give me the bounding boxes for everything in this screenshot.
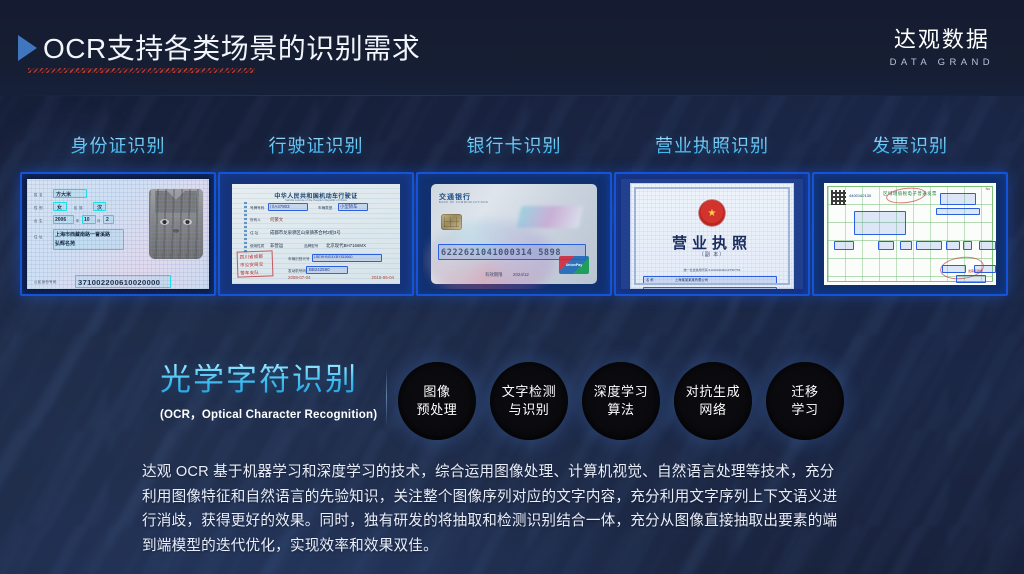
national-emblem-icon [699, 200, 725, 226]
license-credit-code-label: 统一社会信用代码 [684, 268, 708, 272]
description-line-3: 行消歧，获得更好的效果。同时，独有研发的将抽取和检测识别结合一体，充分从图像直接… [142, 509, 884, 534]
invoice-code: 4400162130 [849, 193, 871, 198]
brand-logo: 达观数据 DATA GRAND [890, 28, 994, 68]
card-frame-bank: 交通银行 BANK OF COMMUNICATIONS 622262104100… [416, 172, 612, 296]
ocr-box-sex [53, 202, 67, 211]
ocr-box-item-6 [963, 241, 972, 250]
bubble-image-preprocessing[interactable]: 图像 预处理 [398, 362, 476, 440]
invoice-document: 4400162130 区域增值税电子普通发票 No [824, 183, 996, 285]
card-label-invoice: 发票识别 [812, 132, 1008, 158]
ocr-box-item-7 [979, 241, 996, 250]
dl-plate-label: 号牌号码 [250, 206, 264, 211]
license-subtitle: （副 本） [699, 251, 725, 258]
ocr-box-invoice-no [940, 193, 976, 205]
id-nation-value: 汉 [97, 204, 102, 211]
license-type-label: 类 型 [646, 288, 654, 289]
id-sex-value: 女 [57, 204, 62, 211]
dl-title: 中华人民共和国机动车行驶证 [274, 191, 357, 200]
dl-vin-label: 车辆识别代号 [288, 257, 310, 262]
ocr-box-nation [93, 202, 106, 211]
id-birth-year-unit: 年 [76, 218, 80, 223]
id-name-label: 姓 名 [34, 192, 43, 197]
bank-card-number: 6222621041000314 5898 [441, 248, 561, 258]
logo-english-text: DATA GRAND [890, 57, 994, 68]
invoice-stamp-text: 发票专用章 [968, 269, 983, 273]
bubble-gan[interactable]: 对抗生成 网络 [674, 362, 752, 440]
card-frame-license: 营业执照 （副 本） 统一社会信用代码 91310011MA1FT9KT53 名… [614, 172, 810, 296]
dl-title-en: Vehicle License of the People's Republic… [285, 198, 346, 202]
card-label-bank: 银行卡识别 [416, 132, 612, 158]
bank-card-hologram [517, 206, 584, 228]
ocr-box-amount [956, 275, 986, 283]
id-birth-day: 2 [106, 217, 109, 223]
scenario-card-license[interactable]: 营业执照识别 营业执照 （副 本） 统一社会信用代码 91310011MA1FT… [614, 132, 810, 296]
ocr-box-birth-year [53, 215, 74, 224]
invoice-qr-code-icon [831, 190, 846, 205]
description-line-4: 到端模型的迭代优化，实现效率和效果双佳。 [142, 534, 884, 559]
vertical-divider [386, 368, 387, 426]
id-sex-label: 性 别 [34, 205, 43, 210]
page-title: OCR支持各类场景的识别需求 [43, 27, 420, 67]
bubble-3-line2: 算法 [594, 401, 648, 419]
description-line-2: 利用图像特征和自然语言的先验知识，关注整个图像序列对应的文字内容，充分利用文字序… [142, 485, 884, 510]
page-title-wrap: OCR支持各类场景的识别需求 [18, 27, 420, 67]
id-address-line1: 上海市西藏南路一誉溪路 [55, 231, 110, 238]
bank-card-document: 交通银行 BANK OF COMMUNICATIONS 622262104100… [431, 184, 597, 284]
triangle-marker-icon [18, 35, 37, 61]
dl-issue-date: 2015-06-04 [372, 275, 394, 280]
dl-use-label: 使用性质 [250, 244, 264, 249]
dl-stamp-line1: 四川省成都 [240, 252, 270, 261]
ocr-box-plate [268, 203, 308, 211]
unionpay-logo-icon [559, 256, 589, 274]
ocr-title-block: 光学字符识别 (OCR，Optical Character Recognitio… [160, 364, 378, 422]
bubble-2-line1: 文字检测 [502, 383, 556, 401]
scenario-card-invoice[interactable]: 发票识别 4400162130 区域增值税电子普通发票 No [812, 132, 1008, 296]
id-nation-label: 民 族 [74, 205, 83, 210]
bank-expiry-label: 有效期限 [485, 272, 503, 278]
dl-use-value: 非营运 [270, 243, 283, 249]
ocr-box-birth-month [82, 215, 96, 224]
dl-engine-value: BB242590 [309, 267, 330, 272]
dl-owner-value: 何繁文 [270, 217, 283, 223]
ocr-box-address [53, 229, 124, 250]
id-birth-year: 2006 [55, 217, 66, 223]
license-title: 营业执照 [672, 232, 752, 253]
dl-stamp-line2: 市公安局交 [240, 260, 270, 269]
bubble-transfer-learning[interactable]: 迁移 学习 [766, 362, 844, 440]
card-frame-driving: 中华人民共和国机动车行驶证 Vehicle License of the Peo… [218, 172, 414, 296]
bubble-5-line1: 迁移 [791, 383, 818, 401]
invoice-number-label: No [986, 187, 990, 191]
license-name-value: 上海某某某某有限公司 [675, 277, 708, 282]
dl-plate-value: 川A47803 [270, 204, 290, 210]
ocr-title-english: (OCR，Optical Character Recognition) [160, 406, 378, 422]
card-label-driving: 行驶证识别 [218, 132, 414, 158]
bubble-2-line2: 与识别 [502, 401, 556, 419]
id-address-label: 住 址 [34, 234, 43, 239]
bubble-5-line2: 学习 [791, 401, 818, 419]
ocr-box-vin [312, 254, 382, 262]
license-type-value: 有限责任公司（自然人投资或控股的法人独资） [675, 288, 744, 289]
dl-address-label: 住 址 [250, 231, 258, 236]
ocr-box-id-number [75, 275, 171, 288]
id-birth-month: 10 [84, 217, 90, 223]
id-birth-label: 出 生 [34, 218, 43, 223]
dl-official-stamp: 四川省成都 市公安局交 警车支队 [237, 250, 274, 277]
bubble-4-line1: 对抗生成 [686, 383, 740, 401]
dl-type-value: 小型轿车 [340, 204, 358, 210]
ocr-box-item-2 [878, 241, 894, 250]
business-license-document: 营业执照 （副 本） 统一社会信用代码 91310011MA1FT9KT53 名… [621, 179, 803, 289]
license-credit-code: 统一社会信用代码 91310011MA1FT9KT53 [684, 268, 741, 272]
scenario-card-bank[interactable]: 银行卡识别 交通银行 BANK OF COMMUNICATIONS 622262… [416, 132, 612, 296]
description-paragraph: 达观 OCR 基于机器学习和深度学习的技术，综合运用图像处理、计算机视觉、自然语… [142, 460, 884, 559]
spellcheck-squiggle-underline [28, 68, 255, 73]
ocr-title-chinese: 光学字符识别 [160, 364, 378, 397]
ocr-box-item-4 [916, 241, 942, 250]
card-frame-id: 姓 名 方大米 性 别 女 民 族 汉 出 生 2006 年 10 月 [20, 172, 216, 296]
dl-security-bar-icon [244, 202, 247, 254]
card-frame-invoice: 4400162130 区域增值税电子普通发票 No [812, 172, 1008, 296]
dl-address-value: 成都市龙泉驿区山泉镇茶合村2组3号 [270, 230, 341, 236]
ocr-box-buyer [854, 211, 906, 235]
logo-chinese-text: 达观数据 [890, 28, 994, 52]
card-label-id: 身份证识别 [20, 132, 216, 158]
ocr-box-vehicle-type [338, 203, 368, 211]
ocr-box-license-name [643, 276, 777, 284]
bank-expiry-value: 2024/12 [513, 272, 529, 277]
dl-model-label: 品牌型号 [304, 244, 318, 249]
ocr-box-birth-day [103, 215, 114, 224]
id-number-value: 371002200610020000 [78, 278, 160, 287]
bubble-text-detection[interactable]: 文字检测 与识别 [490, 362, 568, 440]
ocr-box-item-5 [946, 241, 960, 250]
license-credit-code-value: 91310011MA1FT9KT53 [709, 268, 741, 272]
description-line-1: 达观 OCR 基于机器学习和深度学习的技术，综合运用图像处理、计算机视觉、自然语… [142, 460, 884, 485]
id-card-document: 姓 名 方大米 性 别 女 民 族 汉 出 生 2006 年 10 月 [27, 179, 209, 289]
id-address-line2: 弘辉名苑 [55, 240, 75, 247]
dl-model-value: 北京现代BH7166MX [326, 243, 366, 249]
bank-name-en: BANK OF COMMUNICATIONS [439, 201, 488, 204]
id-birth-month-unit: 月 [97, 218, 101, 223]
id-number-label: 公民身份号码 [34, 279, 57, 284]
dl-vin-value: LBEHHNG4XBY815660 [314, 255, 353, 259]
ocr-box-item-3 [900, 241, 912, 250]
bubble-deep-learning[interactable]: 深度学习 算法 [582, 362, 660, 440]
dl-register-date: 2008-07-04 [288, 275, 310, 280]
bank-chip-icon [441, 214, 462, 230]
ocr-box-engine [306, 266, 348, 274]
bubble-1-line1: 图像 [417, 383, 458, 401]
ocr-box-name [53, 189, 87, 198]
ocr-box-invoice-date [936, 208, 980, 215]
bubble-3-line1: 深度学习 [594, 383, 648, 401]
card-label-license: 营业执照识别 [614, 132, 810, 158]
ocr-box-tax [942, 265, 966, 273]
technology-bubble-list: 图像 预处理 文字检测 与识别 深度学习 算法 对抗生成 网络 迁移 [398, 362, 844, 440]
id-name-value: 方大米 [56, 191, 71, 198]
license-name-label: 名 称 [646, 277, 654, 282]
slide-header: OCR支持各类场景的识别需求 达观数据 DATA GRAND [0, 0, 1024, 96]
id-photo-cat [149, 189, 203, 259]
scenario-card-driving[interactable]: 行驶证识别 中华人民共和国机动车行驶证 Vehicle License of t… [218, 132, 414, 296]
ocr-box-item-1 [834, 241, 854, 250]
bubble-1-line2: 预处理 [417, 401, 458, 419]
driving-license-document: 中华人民共和国机动车行驶证 Vehicle License of the Peo… [232, 184, 400, 284]
dl-engine-label: 发动机号码 [288, 269, 306, 274]
bubble-4-line2: 网络 [686, 401, 740, 419]
dl-owner-label: 所有人 [250, 218, 261, 223]
scenario-card-id[interactable]: 身份证识别 姓 名 方大米 性 别 女 民 族 汉 出 生 2006 年 [20, 132, 216, 296]
license-paper: 营业执照 （副 本） 统一社会信用代码 91310011MA1FT9KT53 名… [630, 183, 794, 289]
dl-stamp-line3: 警车支队 [240, 268, 270, 277]
scenario-card-row: 身份证识别 姓 名 方大米 性 别 女 民 族 汉 出 生 2006 年 [0, 132, 1024, 317]
dl-type-label: 车辆类型 [318, 206, 332, 211]
